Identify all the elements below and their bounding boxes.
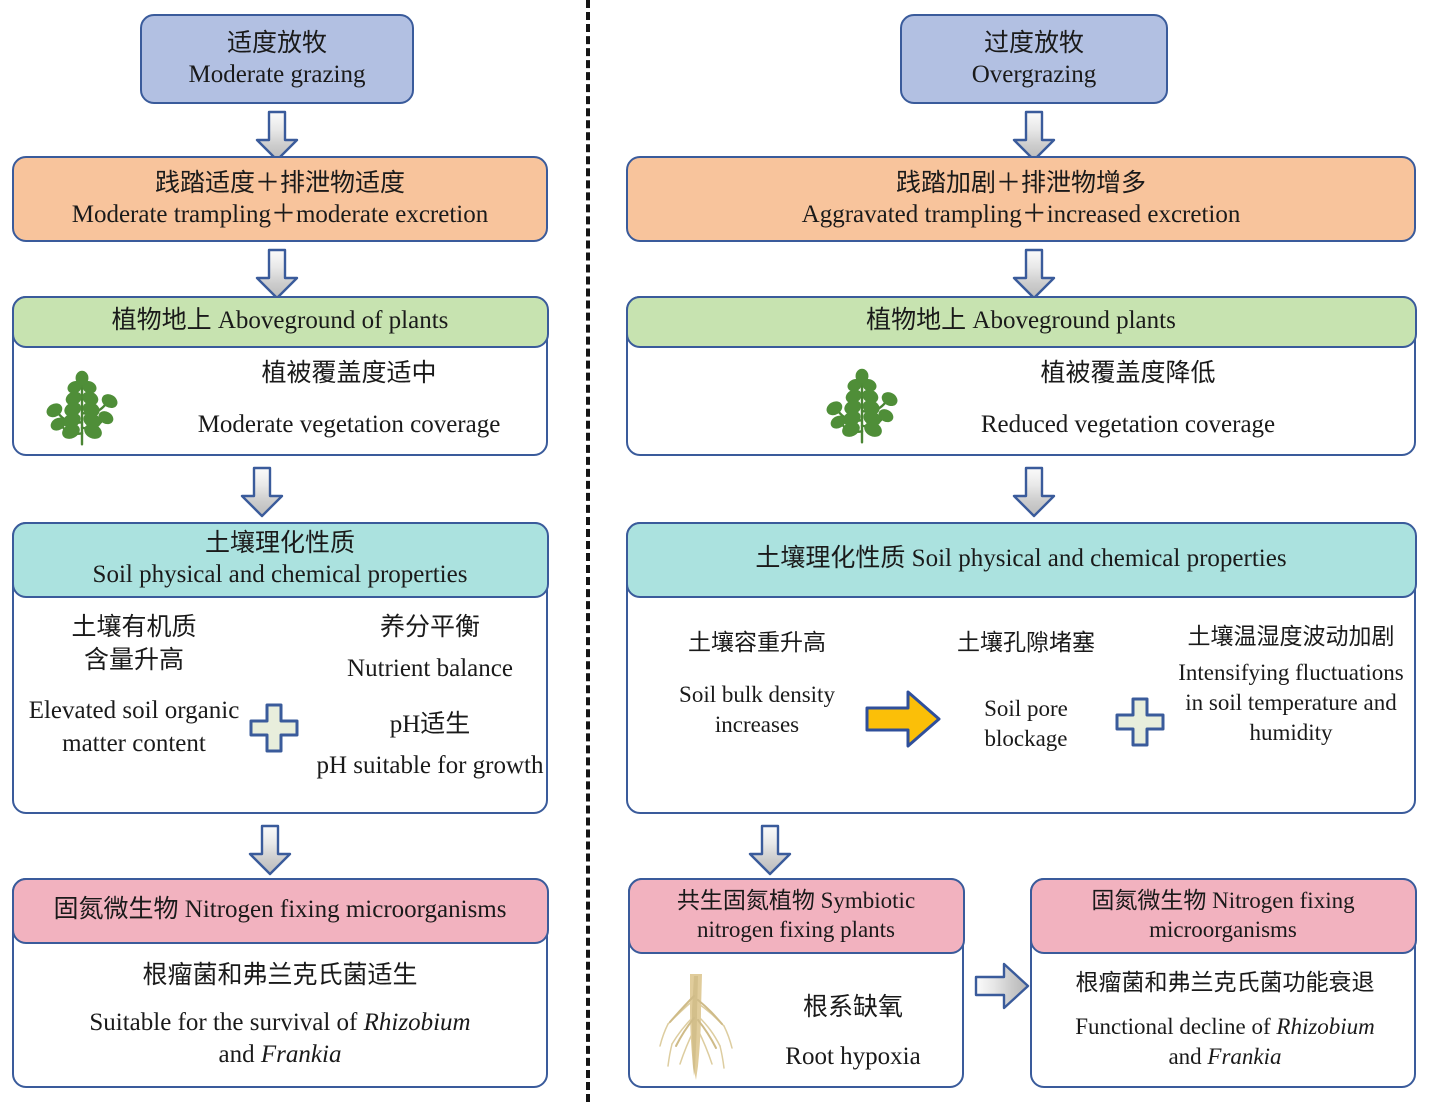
right-symbiotic-plants-box[interactable]: 共生固氮植物 Symbiotic nitrogen fixing plants [628,878,964,1088]
right-arrow-trampling-to-aboveground [1012,248,1056,300]
left-arrow-grazing-to-trampling [255,110,299,162]
plus-icon [1114,696,1166,748]
right-aboveground-box[interactable]: 植物地上 Aboveground plants [626,296,1416,456]
right-soil-item-temp-humidity: 土壤温湿度波动加剧 Intensifying fluctuations in s… [1176,622,1406,748]
right-aboveground-text: 植被覆盖度降低 Reduced vegetation coverage [928,358,1328,441]
plus-icon [248,702,300,754]
left-moderate-grazing-box[interactable]: 适度放牧 Moderate grazing [140,14,414,104]
right-symbiotic-header: 共生固氮植物 Symbiotic nitrogen fixing plants [628,878,965,954]
left-aboveground-header: 植物地上 Aboveground of plants [12,296,549,348]
left-aboveground-text: 植被覆盖度适中 Moderate vegetation coverage [164,358,534,441]
right-arrow-soil-to-symbiotic [748,824,792,876]
right-microbes-en-line: Functional decline of Rhizobium and Fran… [1040,1012,1410,1072]
root-icon [648,968,744,1086]
left-trampling-box[interactable]: 践踏适度＋排泄物适度 Moderate trampling＋moderate e… [12,156,548,242]
plant-icon [36,356,128,448]
right-symbiotic-header-text: 共生固氮植物 Symbiotic nitrogen fixing plants [677,887,915,943]
left-soil-header: 土壤理化性质 Soil physical and chemical proper… [12,522,549,598]
left-aboveground-box[interactable]: 植物地上 Aboveground of plants [12,296,548,456]
right-soil-properties-box[interactable]: 土壤理化性质 Soil physical and chemical proper… [626,522,1416,814]
left-arrow-trampling-to-aboveground [255,248,299,300]
left-microbes-header: 固氮微生物 Nitrogen fixing microorganisms [12,878,549,944]
left-soil-item-organic-matter: 土壤有机质 含量升高 Elevated soil organic matter … [28,612,240,760]
right-microbes-header-text: 固氮微生物 Nitrogen fixing microorganisms [1091,887,1354,943]
right-microbes-box[interactable]: 固氮微生物 Nitrogen fixing microorganisms 根瘤菌… [1030,878,1416,1088]
flowchart-canvas: 适度放牧 Moderate grazing 践踏适度＋排泄物适度 Moderat… [0,0,1430,1102]
left-grazing-text: 适度放牧 Moderate grazing [188,28,365,91]
left-microbes-text: 根瘤菌和弗兰克氏菌适生 Suitable for the survival of… [28,960,532,1072]
right-soil-header: 土壤理化性质 Soil physical and chemical proper… [626,522,1417,598]
right-overgrazing-box[interactable]: 过度放牧 Overgrazing [900,14,1168,104]
arrow-right-orange-icon [864,688,942,750]
left-soil-header-text: 土壤理化性质 Soil physical and chemical proper… [93,529,468,590]
left-soil-properties-box[interactable]: 土壤理化性质 Soil physical and chemical proper… [12,522,548,814]
right-soil-item-bulk-density: 土壤容重升高 Soil bulk density increases [648,628,866,740]
right-grazing-text: 过度放牧 Overgrazing [972,28,1097,91]
right-arrow-grazing-to-trampling [1012,110,1056,162]
left-soil-item-nutrient-balance: 养分平衡 Nutrient balance pH适生 pH suitable f… [310,612,550,782]
right-symbiotic-text: 根系缺氧 Root hypoxia [758,992,948,1073]
right-trampling-box[interactable]: 践踏加剧＋排泄物增多 Aggravated trampling＋increase… [626,156,1416,242]
right-trampling-text: 践踏加剧＋排泄物增多 Aggravated trampling＋increase… [802,168,1241,231]
left-arrow-aboveground-to-soil [240,466,284,518]
left-microbes-box[interactable]: 固氮微生物 Nitrogen fixing microorganisms 根瘤菌… [12,878,548,1088]
right-microbes-text: 根瘤菌和弗兰克氏菌功能衰退 Functional decline of Rhiz… [1040,968,1410,1072]
right-microbes-header: 固氮微生物 Nitrogen fixing microorganisms [1030,878,1417,954]
right-aboveground-header: 植物地上 Aboveground plants [626,296,1417,348]
left-trampling-text: 践踏适度＋排泄物适度 Moderate trampling＋moderate e… [72,168,489,231]
vertical-dashed-divider [586,0,590,1102]
right-arrow-aboveground-to-soil [1012,466,1056,518]
right-soil-item-pore-blockage: 土壤孔隙堵塞 Soil pore blockage [946,628,1106,754]
arrow-right-gray-icon [974,962,1030,1010]
plant-icon [816,354,908,446]
left-arrow-soil-to-microbes [248,824,292,876]
left-microbes-en-line: Suitable for the survival of Rhizobium a… [28,1007,532,1072]
